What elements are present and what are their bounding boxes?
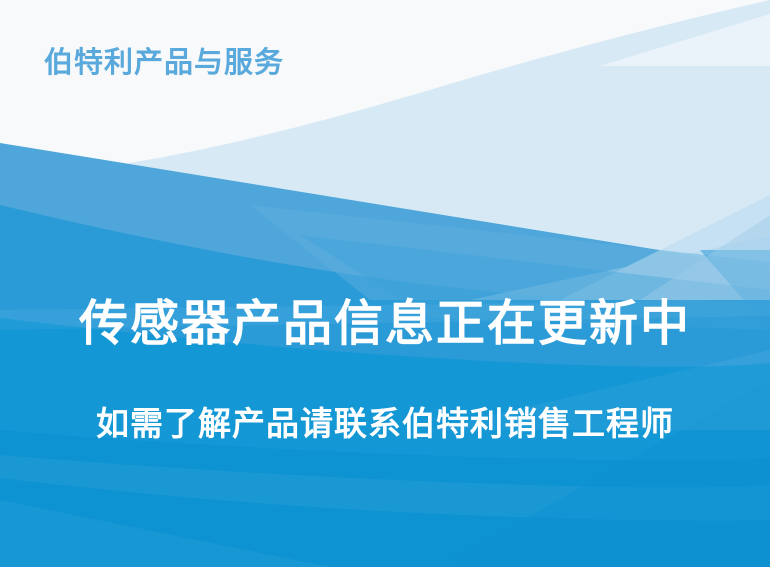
subheadline-text: 如需了解产品请联系伯特利销售工程师 <box>0 404 770 444</box>
brand-title: 伯特利产品与服务 <box>44 48 284 80</box>
product-placeholder-banner: 伯特利产品与服务 传感器产品信息正在更新中 如需了解产品请联系伯特利销售工程师 <box>0 0 770 567</box>
banner-text-layer: 伯特利产品与服务 传感器产品信息正在更新中 如需了解产品请联系伯特利销售工程师 <box>0 0 770 567</box>
headline-text: 传感器产品信息正在更新中 <box>0 296 770 354</box>
